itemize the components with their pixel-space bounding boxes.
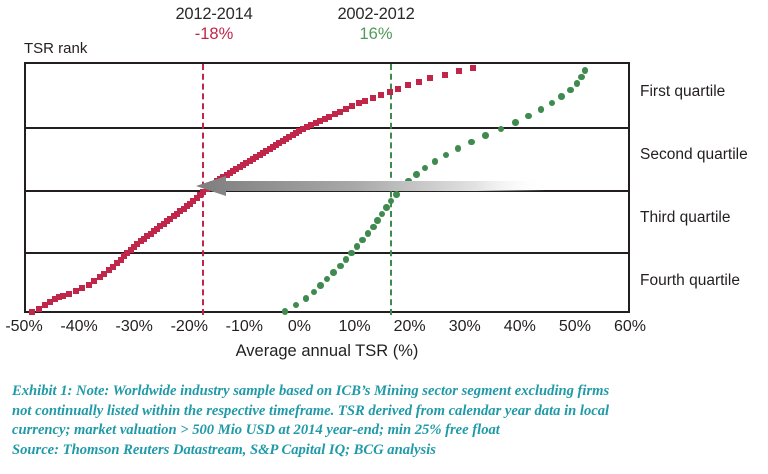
data-point: [73, 288, 79, 294]
data-point: [164, 218, 170, 224]
data-point: [66, 291, 72, 297]
data-point: [354, 243, 361, 250]
period-value: -18%: [134, 24, 294, 45]
data-point: [317, 118, 323, 124]
data-point: [395, 86, 401, 92]
data-point: [378, 92, 384, 98]
data-point: [118, 257, 124, 263]
x-tick-label: 30%: [449, 318, 481, 336]
data-point: [148, 231, 154, 237]
data-point: [512, 119, 519, 126]
data-point: [322, 116, 328, 122]
data-point: [141, 236, 147, 242]
data-point: [114, 260, 120, 266]
data-point: [567, 87, 574, 94]
data-point: [263, 148, 269, 154]
data-point: [280, 138, 286, 144]
reference-line-median-2002-2012: [390, 64, 392, 315]
data-point: [405, 82, 411, 88]
data-point: [332, 111, 338, 117]
data-point: [171, 213, 177, 219]
data-point: [79, 285, 85, 291]
x-tick-label: 10%: [339, 318, 371, 336]
x-tick-label: -50%: [5, 318, 42, 336]
data-point: [220, 174, 226, 180]
data-point: [276, 140, 282, 146]
data-point: [257, 152, 263, 158]
x-tick-label: 60%: [614, 318, 646, 336]
quartile-label-1: First quartile: [640, 83, 725, 101]
data-point: [174, 211, 180, 217]
quartile-label-4: Fourth quartile: [640, 272, 740, 290]
data-point: [243, 160, 249, 166]
data-point: [326, 114, 332, 120]
data-point: [356, 100, 362, 106]
quartile-divider-2: [26, 190, 628, 192]
data-point: [47, 299, 53, 305]
data-point: [56, 294, 62, 300]
data-point: [97, 274, 103, 280]
data-point: [362, 98, 368, 104]
data-point: [86, 282, 92, 288]
data-point: [313, 120, 319, 126]
data-point: [52, 296, 58, 302]
y-axis-label: TSR rank: [24, 40, 87, 57]
data-point: [101, 271, 107, 277]
x-tick-label: -30%: [115, 318, 152, 336]
data-point: [167, 216, 173, 222]
data-point: [538, 106, 545, 113]
x-tick-label: -10%: [226, 318, 263, 336]
data-point: [233, 166, 239, 172]
quartile-divider-3: [26, 252, 628, 254]
period-label: 2012-2014: [134, 4, 294, 24]
data-point: [416, 79, 422, 85]
data-point: [455, 145, 462, 152]
data-point: [303, 295, 310, 302]
data-point: [432, 158, 439, 165]
data-point: [60, 293, 66, 299]
data-point: [370, 224, 377, 231]
data-point: [286, 134, 292, 140]
data-point: [210, 181, 216, 187]
x-tick-label: 0%: [288, 318, 311, 336]
data-point: [250, 156, 256, 162]
data-point: [273, 142, 279, 148]
data-point: [190, 198, 196, 204]
data-point: [138, 238, 144, 244]
data-point: [270, 144, 276, 150]
data-point: [359, 237, 366, 244]
data-point: [337, 109, 343, 115]
quartile-label-2: Second quartile: [640, 146, 748, 164]
data-point: [343, 256, 350, 263]
x-axis-title: Average annual TSR (%): [24, 342, 630, 361]
x-tick-label: -40%: [60, 318, 97, 336]
data-point: [578, 74, 585, 81]
data-point: [282, 308, 289, 315]
data-point: [181, 206, 187, 212]
data-point: [131, 244, 137, 250]
period-label: 2002-2012: [296, 4, 456, 24]
data-point: [330, 269, 337, 276]
data-point: [379, 211, 386, 218]
data-point: [144, 233, 150, 239]
x-axis-tick-labels: -50%-40%-30%-20%-10%0%10%20%30%40%50%60%: [0, 318, 768, 338]
data-point: [413, 171, 420, 178]
data-point: [311, 289, 318, 296]
x-tick-label: -20%: [171, 318, 208, 336]
data-point: [214, 178, 220, 184]
x-tick-label: 40%: [504, 318, 536, 336]
data-point: [227, 170, 233, 176]
data-point: [194, 195, 200, 201]
reference-line-median-2012-2014: [202, 64, 204, 315]
footnote-line: Exhibit 1: Note: Worldwide industry samp…: [12, 382, 756, 402]
data-point: [260, 150, 266, 156]
data-point: [374, 217, 381, 224]
data-point: [36, 306, 42, 312]
quartile-divider-1: [26, 127, 628, 129]
data-point: [177, 208, 183, 214]
data-point: [161, 221, 167, 227]
data-point: [110, 264, 116, 270]
data-point: [343, 106, 349, 112]
data-point: [290, 132, 296, 138]
data-point: [393, 191, 400, 198]
data-point: [317, 282, 324, 289]
data-point: [224, 172, 230, 178]
data-point: [349, 103, 355, 109]
plot-area: [24, 62, 630, 313]
data-point: [549, 100, 556, 107]
period-annotation-2012-2014: 2012-2014 -18%: [134, 4, 294, 45]
data-point: [482, 132, 489, 139]
data-point: [134, 241, 140, 247]
exhibit-chart: 2012-2014 -18% 2002-2012 16% TSR rank Fi…: [0, 0, 768, 474]
data-point: [154, 226, 160, 232]
data-point: [230, 168, 236, 174]
data-point: [283, 136, 289, 142]
data-point: [456, 68, 462, 74]
data-point: [337, 263, 344, 270]
data-point: [468, 139, 475, 146]
data-point: [106, 267, 112, 273]
data-point: [405, 178, 412, 185]
period-value: 16%: [296, 24, 456, 45]
data-point: [91, 278, 97, 284]
footnote: Exhibit 1: Note: Worldwide industry samp…: [12, 382, 756, 460]
data-point: [247, 158, 253, 164]
data-point: [427, 75, 433, 81]
data-point: [29, 309, 35, 315]
data-point: [470, 65, 476, 71]
data-point: [240, 162, 246, 168]
data-point: [574, 80, 581, 87]
quartile-label-3: Third quartile: [640, 209, 730, 227]
data-point: [187, 201, 193, 207]
data-point: [293, 130, 299, 136]
x-tick-label: 50%: [559, 318, 591, 336]
data-point: [582, 67, 589, 74]
footnote-line: not continually listed within the respec…: [12, 402, 756, 422]
data-point: [442, 72, 448, 78]
data-point: [370, 95, 376, 101]
data-point: [422, 165, 429, 172]
data-point: [151, 228, 157, 234]
data-point: [237, 164, 243, 170]
x-tick-label: 20%: [394, 318, 426, 336]
period-annotation-2002-2012: 2002-2012 16%: [296, 4, 456, 45]
data-point: [267, 146, 273, 152]
data-point: [293, 302, 300, 309]
data-point: [525, 113, 532, 120]
data-point: [558, 93, 565, 100]
data-point: [253, 154, 259, 160]
data-point: [42, 302, 48, 308]
footnote-line: Source: Thomson Reuters Datastream, S&P …: [12, 441, 756, 461]
data-point: [184, 203, 190, 209]
data-point: [157, 223, 163, 229]
data-point: [324, 276, 331, 283]
data-point: [217, 176, 223, 182]
footnote-line: currency; market valuation > 500 Mio USD…: [12, 421, 756, 441]
data-point: [443, 152, 450, 159]
data-point: [365, 230, 372, 237]
